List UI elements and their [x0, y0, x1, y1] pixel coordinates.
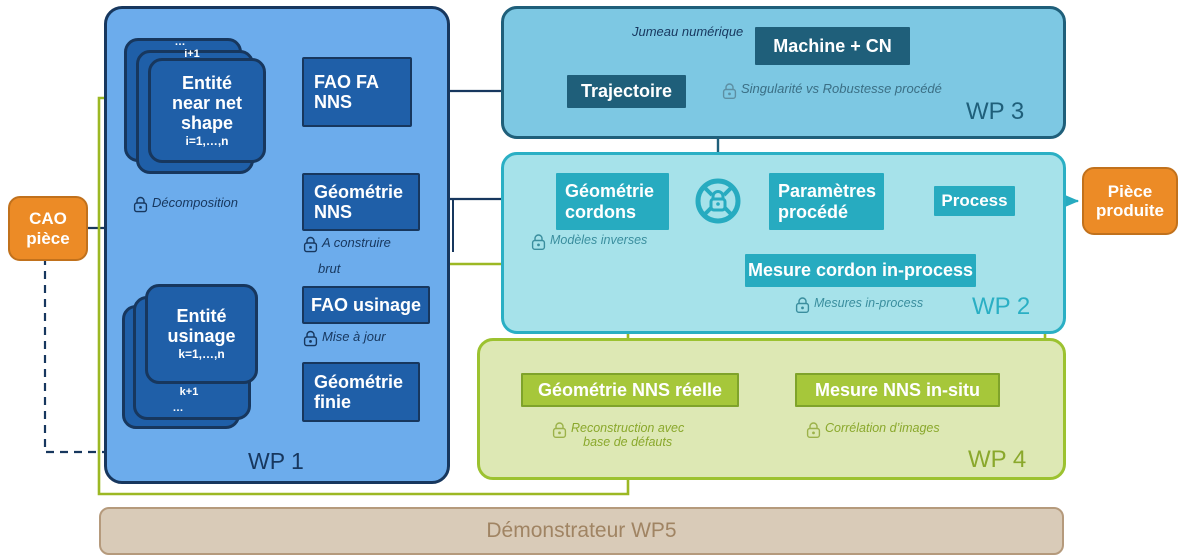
wp2-label: WP 2 — [972, 293, 1030, 321]
mesure-nns-in-situ-label: Mesure NNS in-situ — [795, 373, 1000, 407]
entity-nns-stack-label-top2: … — [142, 36, 218, 48]
parametres-procede-line1: Paramètres — [778, 181, 876, 201]
geometrie-cordons-line1: Géométrie — [565, 181, 654, 201]
geometrie-finie[interactable]: Géométrie finie — [302, 362, 420, 422]
entity-usinage-line2: usinage — [167, 326, 235, 346]
wp5-demonstrateur[interactable]: Démonstrateur WP5 — [99, 507, 1064, 555]
machine-cn-label: Machine + CN — [755, 27, 910, 65]
note-mesures-in-process-text: Mesures in-process — [814, 296, 923, 310]
note-reconstruction-line1: Reconstruction avec — [571, 421, 684, 435]
edge-label-brut: brut — [318, 261, 340, 276]
geometrie-finie-line2: finie — [314, 392, 351, 412]
note-reconstruction-line2: base de défauts — [583, 435, 672, 449]
note-decomposition: Décomposition — [133, 196, 238, 213]
note-correlation: Corrélation d’images — [806, 421, 940, 439]
note-reconstruction: Reconstruction avec base de défauts — [552, 421, 684, 449]
geometrie-nns-reelle-label: Géométrie NNS réelle — [521, 373, 739, 407]
wp1-label: WP 1 — [248, 448, 304, 475]
wp4-label: WP 4 — [968, 446, 1026, 474]
lock-icon — [795, 296, 810, 314]
piece-produite-line1: Pièce — [1108, 182, 1152, 201]
note-mise-a-jour: Mise à jour — [303, 330, 386, 347]
parametres-procede-line2: procédé — [778, 202, 848, 222]
geometrie-nns-line1: Géométrie — [314, 182, 403, 202]
entity-nns-line1: Entité — [182, 73, 232, 93]
note-mesures-in-process: Mesures in-process — [795, 296, 923, 314]
piece-produite-line2: produite — [1096, 201, 1164, 220]
edge-label-jumeau-numerique: Jumeau numérique — [632, 24, 743, 39]
entity-nns-line2: near net — [172, 93, 242, 113]
note-mise-a-jour-text: Mise à jour — [322, 330, 386, 345]
note-a-construire: A construire — [303, 236, 391, 253]
entity-usinage-index: k=1,…,n — [178, 348, 224, 361]
note-a-construire-text: A construire — [322, 236, 391, 251]
entity-nns-index: i=1,…,n — [185, 135, 228, 148]
mesure-cordon-label: Mesure cordon in-process — [745, 254, 976, 287]
lock-icon — [133, 196, 148, 213]
parametres-procede[interactable]: Paramètres procédé — [769, 173, 884, 230]
cao-piece-line1: CAO — [29, 209, 67, 228]
lock-hub-icon — [694, 177, 742, 225]
entity-usinage-stack-label-b2: … — [140, 402, 216, 414]
note-singularite: Singularité vs Robustesse procédé — [722, 82, 942, 100]
geometrie-cordons[interactable]: Géométrie cordons — [556, 173, 669, 230]
note-modeles-inverses-text: Modèles inverses — [550, 233, 647, 247]
fao-usinage-label: FAO usinage — [302, 286, 430, 324]
diagram-canvas: WP 1 … i+1 Entité near net shape i=1,…,n… — [0, 0, 1188, 560]
entity-usinage-line1: Entité — [176, 306, 226, 326]
note-correlation-text: Corrélation d’images — [825, 421, 940, 435]
lock-icon — [531, 233, 546, 251]
entity-near-net-shape[interactable]: Entité near net shape i=1,…,n — [148, 58, 266, 163]
piece-produite[interactable]: Pièce produite — [1082, 167, 1178, 235]
trajectoire-label: Trajectoire — [567, 75, 686, 108]
note-singularite-text: Singularité vs Robustesse procédé — [741, 82, 942, 97]
note-modeles-inverses: Modèles inverses — [531, 233, 647, 251]
geometrie-nns[interactable]: Géométrie NNS — [302, 173, 420, 231]
entity-nns-line3: shape — [181, 113, 233, 133]
wp3-label: WP 3 — [966, 98, 1024, 126]
process-label: Process — [934, 186, 1015, 216]
note-decomposition-text: Décomposition — [152, 196, 238, 211]
cao-piece[interactable]: CAO pièce — [8, 196, 88, 261]
fao-fa-nns-line2: NNS — [314, 92, 352, 112]
lock-icon — [722, 82, 737, 100]
lock-icon — [552, 421, 567, 439]
wp5-label: Démonstrateur WP5 — [486, 519, 676, 543]
lock-icon — [303, 236, 318, 253]
lock-icon — [303, 330, 318, 347]
lock-icon — [806, 421, 821, 439]
geometrie-finie-line1: Géométrie — [314, 372, 403, 392]
fao-fa-nns[interactable]: FAO FA NNS — [302, 57, 412, 127]
entity-usinage-stack-label-b1: k+1 — [151, 386, 227, 398]
geometrie-cordons-line2: cordons — [565, 202, 636, 222]
geometrie-nns-line2: NNS — [314, 202, 352, 222]
fao-fa-nns-line1: FAO FA — [314, 72, 379, 92]
entity-usinage[interactable]: Entité usinage k=1,…,n — [145, 284, 258, 384]
cao-piece-line2: pièce — [26, 229, 69, 248]
